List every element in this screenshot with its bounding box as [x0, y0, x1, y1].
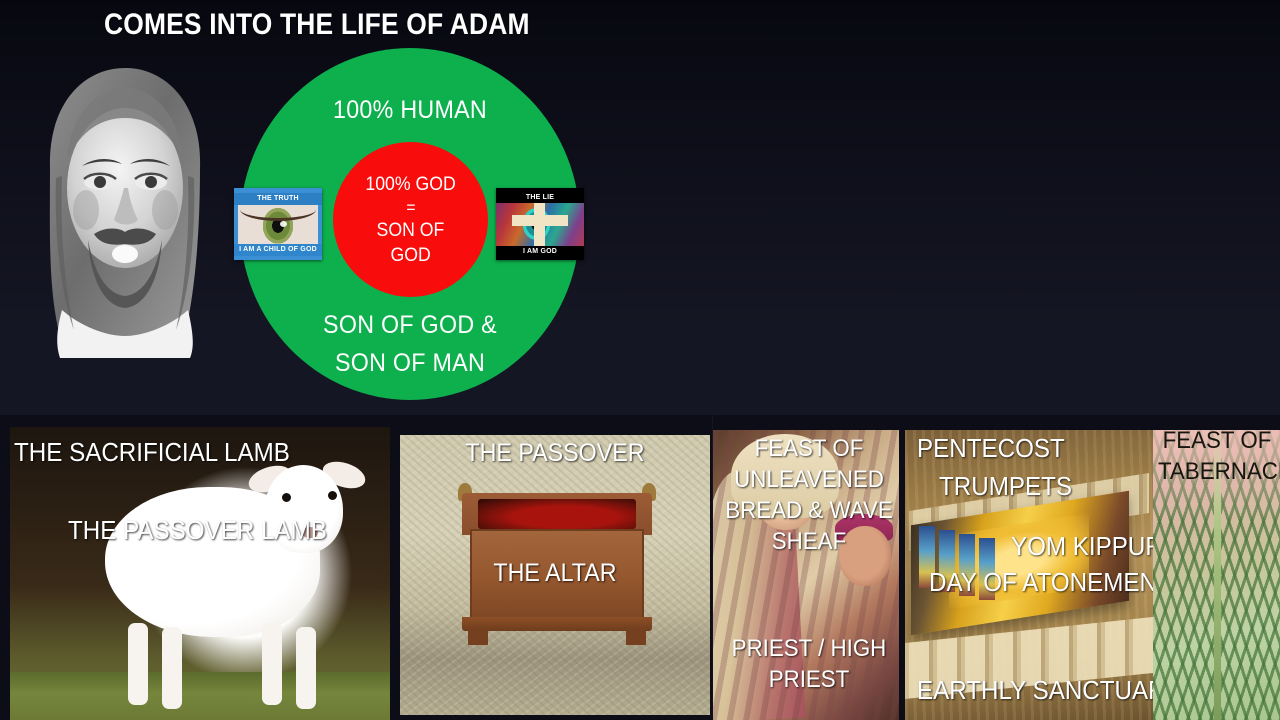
panel-passover-altar[interactable]: THE PASSOVER THE ALTAR	[398, 415, 712, 720]
cheek-shadow-left	[73, 190, 99, 230]
son-line-2: SON OF MAN	[252, 344, 568, 382]
slide-canvas: COMES INTO THE LIFE OF ADAM	[0, 0, 1280, 720]
jesus-portrait	[10, 48, 240, 368]
panel4-text-yom-kippur: YOM KIPPUR	[1011, 531, 1153, 562]
lamb-leg	[162, 627, 182, 709]
label-100-percent-human: 100% HUMAN	[252, 96, 568, 125]
panel4-text-day-of-atonement: DAY OF ATONEMENT	[929, 567, 1153, 598]
lamb-leg	[262, 623, 282, 705]
label-god: GOD	[390, 243, 430, 268]
label-100-percent-god: 100% GOD	[365, 172, 455, 197]
iris-right	[145, 176, 157, 188]
human-eye-image	[238, 205, 318, 245]
altar-contents	[478, 499, 636, 529]
panel4-text-trumpets: TRUMPETS	[939, 471, 1072, 502]
iris-left	[94, 176, 106, 188]
panel3-text-2: PRIEST / HIGH PRIEST	[723, 633, 896, 695]
panel5-text-feast-of-tabernacles: FEAST OF TABERNACLES	[1157, 425, 1275, 487]
truth-card-top-label: THE TRUTH	[234, 193, 322, 205]
feasts-strip: THE SACRIFICIAL LAMB THE PASSOVER LAMB	[0, 415, 1280, 720]
panel2-text-2: THE ALTAR	[493, 559, 616, 588]
lie-card-bottom-label: I AM GOD	[496, 246, 584, 257]
chin-highlight	[112, 245, 138, 263]
panel1-text-2: THE PASSOVER LAMB	[68, 515, 327, 546]
jesus-portrait-svg	[10, 48, 240, 368]
inner-circle-god: 100% GOD = SON OF GOD	[333, 142, 488, 297]
truth-card[interactable]: THE TRUTH I AM A CHILD OF GOD	[234, 188, 322, 260]
cheek-shadow-right	[152, 190, 178, 230]
cross-horizontal-bar	[512, 215, 568, 226]
label-son-of-god-and-man: SON OF GOD & SON OF MAN	[252, 306, 568, 382]
son-line-1: SON OF GOD &	[252, 306, 568, 344]
panel-sacrificial-lamb[interactable]: THE SACRIFICIAL LAMB THE PASSOVER LAMB	[0, 415, 398, 720]
lamb-photo	[10, 427, 390, 720]
lamb-leg	[296, 627, 316, 709]
grass-foreground	[10, 672, 390, 720]
altar-foot	[468, 629, 488, 645]
lamb-eye	[282, 493, 291, 502]
panel-earthly-sanctuary[interactable]: PENTECOST TRUMPETS YOM KIPPUR DAY OF ATO…	[905, 415, 1153, 720]
panel-feast-of-tabernacles[interactable]: FEAST OF TABERNACLES	[1153, 415, 1280, 720]
lie-card[interactable]: THE LIE I AM GOD	[496, 188, 584, 260]
panel-unleavened-bread[interactable]: FEAST OF UNLEAVENED BREAD & WAVE SHEAF P…	[713, 415, 905, 720]
truth-card-bottom-label: I AM A CHILD OF GOD	[234, 244, 322, 256]
altar-foot	[626, 629, 646, 645]
label-equals: =	[406, 197, 415, 218]
page-title: COMES INTO THE LIFE OF ADAM	[104, 8, 530, 42]
lamb-leg	[128, 623, 148, 705]
panel3-text-1: FEAST OF UNLEAVENED BREAD & WAVE SHEAF	[723, 433, 896, 557]
panel4-text-pentecost: PENTECOST	[917, 433, 1065, 464]
altar-base	[462, 617, 652, 631]
panel2-text-1: THE PASSOVER	[465, 439, 644, 468]
panel1-text-1: THE SACRIFICIAL LAMB	[14, 437, 290, 468]
label-son-of: SON OF	[377, 218, 445, 243]
lamb-eye	[328, 491, 337, 500]
lie-card-top-label: THE LIE	[496, 192, 584, 203]
panel4-text-earthly-sanctuary: EARTHLY SANCTUARY	[917, 675, 1153, 706]
